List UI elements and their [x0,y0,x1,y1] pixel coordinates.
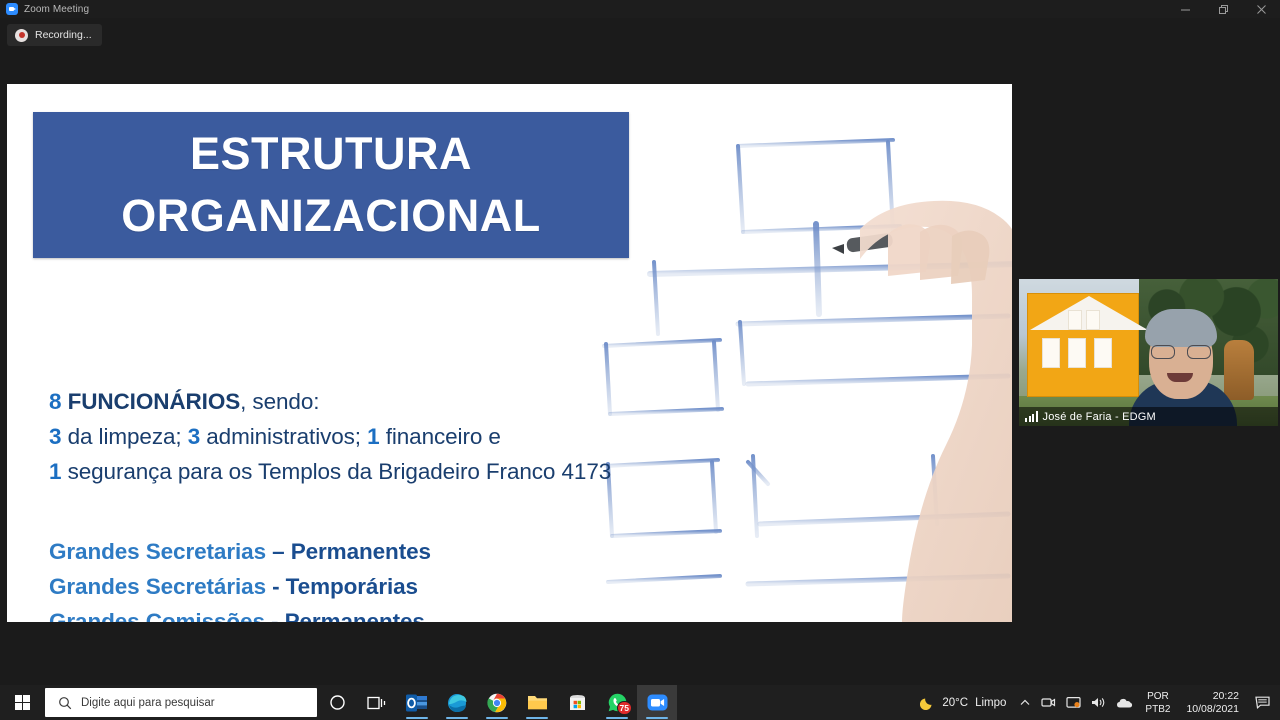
clock-date: 10/08/2021 [1186,703,1239,716]
system-tray: 20°C Limpo [916,685,1280,720]
close-icon[interactable] [1242,0,1280,18]
file-explorer-icon[interactable] [517,685,557,720]
slide-list-block: Grandes Secretarias – PermanentesGrandes… [49,534,809,622]
slide-title-banner: ESTRUTURA ORGANIZACIONAL [33,112,629,258]
slide-paragraph-line-1: 8 FUNCIONÁRIOS, sendo: [49,384,769,419]
text-run: 3 [188,424,200,449]
shared-screen-slide[interactable]: ESTRUTURA ORGANIZACIONAL 8 FUNCIONÁRIOS,… [7,84,1012,622]
weather-temperature: 20°C [942,697,968,709]
language-indicator[interactable]: POR PTB2 [1138,685,1177,720]
windows-start-icon[interactable] [0,685,45,720]
windows-taskbar: Digite aqui para pesquisar [0,685,1280,720]
slide-paragraph-line-3: 1 segurança para os Templos da Brigadeir… [49,454,769,489]
zoom-window-titlebar: Zoom Meeting [0,0,1280,18]
search-placeholder: Digite aqui para pesquisar [81,697,215,709]
clock-time: 20:22 [1213,690,1239,703]
zoom-icon [6,3,18,15]
action-center-icon[interactable] [1248,685,1278,720]
slide-list-line-3: Grandes Comissões - Permanentes [49,604,809,622]
text-run: 3 [49,424,61,449]
edge-icon[interactable] [437,685,477,720]
volume-icon[interactable] [1086,685,1111,720]
onedrive-cloud-icon[interactable] [1111,685,1138,720]
slide-list-line-2: Grandes Secretárias - Temporárias [49,569,809,604]
weather-condition: Limpo [975,697,1006,709]
slide-title-line-2: ORGANIZACIONAL [121,185,540,247]
display-share-icon[interactable] [1061,685,1086,720]
text-run: - Temporárias [272,574,418,599]
text-run: Grandes Comissões [49,609,271,622]
restore-icon[interactable] [1204,0,1242,18]
whatsapp-icon[interactable]: 75 [597,685,637,720]
minimize-icon[interactable] [1166,0,1204,18]
text-run: - Permanentes [271,609,425,622]
task-view-icon[interactable] [357,685,397,720]
text-run: Grandes Secretárias [49,574,272,599]
text-run: administrativos; [200,424,367,449]
camera-icon[interactable] [1036,685,1061,720]
search-icon [58,696,72,710]
language-line-1: POR [1147,690,1169,703]
outlook-icon[interactable] [397,685,437,720]
participant-video-tile[interactable]: José de Faria - EDGM [1019,279,1278,426]
clock[interactable]: 20:22 10/08/2021 [1177,685,1248,720]
signal-bars-icon [1025,411,1038,422]
chevron-up-icon[interactable] [1014,685,1036,720]
text-run: – Permanentes [272,539,431,564]
record-dot-icon [15,29,28,42]
slide-paragraph-line-2: 3 da limpeza; 3 administrativos; 1 finan… [49,419,769,454]
window-title: Zoom Meeting [24,4,89,15]
language-line-2: PTB2 [1145,703,1170,716]
participant-video-image [1019,279,1278,426]
whatsapp-badge: 75 [617,701,632,715]
participant-name-bar: José de Faria - EDGM [1019,407,1278,426]
participant-name: José de Faria - EDGM [1043,411,1156,423]
slide-title-line-1: ESTRUTURA [190,123,472,185]
zoom-taskbar-icon[interactable] [637,685,677,720]
chrome-icon[interactable] [477,685,517,720]
recording-indicator[interactable]: Recording... [7,24,102,46]
titlebar-left-group: Zoom Meeting [0,3,89,15]
cortana-icon[interactable] [317,685,357,720]
window-controls [1166,0,1280,18]
search-input[interactable]: Digite aqui para pesquisar [45,688,317,717]
recording-label: Recording... [35,29,92,41]
text-run: 1 [367,424,379,449]
text-run: , sendo: [240,389,319,414]
text-run: 8 [49,389,61,414]
text-run: Grandes Secretarias [49,539,272,564]
text-run: financeiro e [380,424,501,449]
text-run: da limpeza; [61,424,187,449]
text-run: 1 [49,459,61,484]
moon-icon [920,695,935,710]
text-run: segurança para os Templos da Brigadeiro … [61,459,611,484]
microsoft-store-icon[interactable] [557,685,597,720]
text-run: FUNCIONÁRIOS [61,389,240,414]
slide-list-line-1: Grandes Secretarias – Permanentes [49,534,809,569]
slide-paragraph-block: 8 FUNCIONÁRIOS, sendo:3 da limpeza; 3 ad… [49,384,769,489]
weather-widget[interactable]: 20°C Limpo [916,695,1014,710]
